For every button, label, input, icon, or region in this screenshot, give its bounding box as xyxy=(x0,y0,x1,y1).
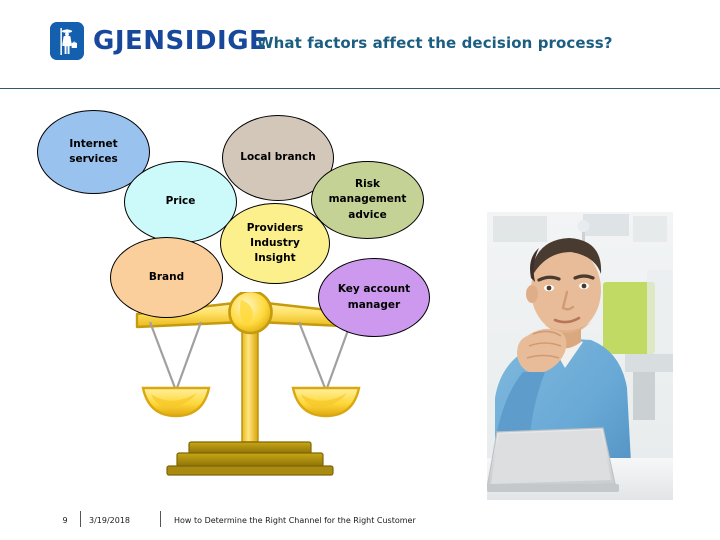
footer-subtitle: How to Determine the Right Channel for t… xyxy=(174,516,416,525)
footer-divider-2 xyxy=(160,511,161,527)
factor-bubble-label: ProvidersIndustryInsight xyxy=(247,221,304,267)
factor-bubble-label: Internetservices xyxy=(69,137,118,167)
footer-date: 3/19/2018 xyxy=(89,516,130,525)
factor-bubble-brand: Brand xyxy=(110,237,223,318)
factor-bubble-providers-industry-insight: ProvidersIndustryInsight xyxy=(220,203,330,284)
brand-wordmark: GJENSIDIGE xyxy=(93,28,267,54)
factor-bubble-risk-management-advice: Riskmanagementadvice xyxy=(311,161,424,239)
factor-bubble-key-account-manager: Key accountmanager xyxy=(318,258,430,337)
factor-bubble-label: Key accountmanager xyxy=(338,282,410,312)
slide-title: What factors affect the decision process… xyxy=(257,34,613,52)
brand-logo: GJENSIDIGE xyxy=(50,22,267,60)
slide-footer: 9 3/19/2018 How to Determine the Right C… xyxy=(0,505,720,540)
businessman-at-laptop-photo xyxy=(487,212,673,500)
header-divider xyxy=(0,88,720,89)
slide-header: GJENSIDIGE What factors affect the decis… xyxy=(0,0,720,88)
factor-bubble-label: Riskmanagementadvice xyxy=(329,177,407,223)
factor-bubble-label: Price xyxy=(166,194,196,209)
factor-bubble-label: Brand xyxy=(149,270,184,285)
factor-bubble-price: Price xyxy=(124,161,237,243)
footer-page-number: 9 xyxy=(57,516,73,525)
gjensidige-figure-icon xyxy=(50,22,84,60)
factor-bubble-label: Local branch xyxy=(240,150,315,165)
footer-divider-1 xyxy=(80,511,81,527)
